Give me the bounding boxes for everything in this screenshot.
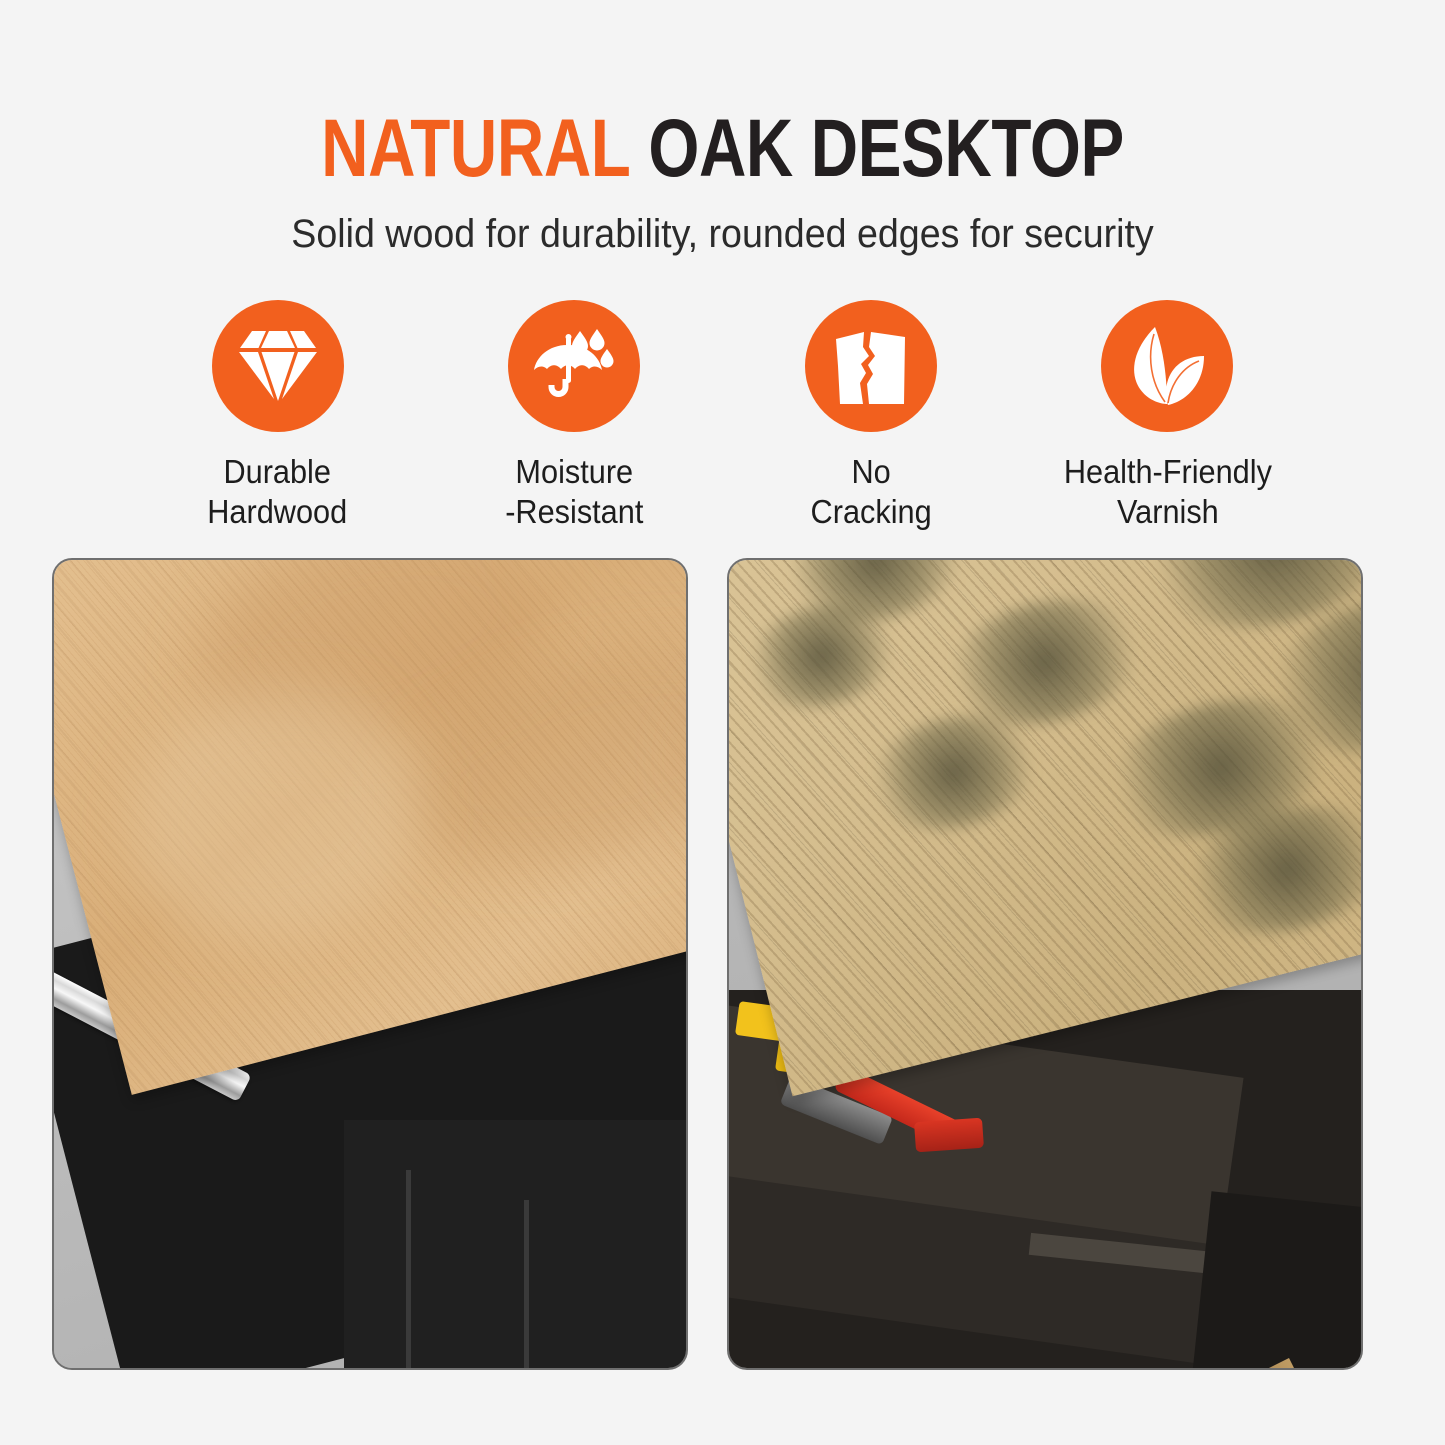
product-infographic: NATURAL OAK DESKTOP Solid wood for durab… xyxy=(0,0,1445,1445)
feature-badge xyxy=(805,300,937,432)
product-photo-clean-oak-workbench xyxy=(54,560,686,1368)
product-photo-mouldy-bamboo-top xyxy=(729,560,1361,1368)
feature-badge xyxy=(508,300,640,432)
page-title: NATURAL OAK DESKTOP xyxy=(145,108,1301,190)
feature-label: Health-Friendly Varnish xyxy=(1063,452,1271,533)
feature-label: Moisture -Resistant xyxy=(505,452,643,533)
feature-badge xyxy=(1101,300,1233,432)
cabinet-panel-seam xyxy=(524,1200,529,1370)
feature-item-no-cracking: No Cracking xyxy=(743,300,998,533)
feature-item-durable-hardwood: Durable Hardwood xyxy=(150,300,405,533)
cabinet-panel-seam xyxy=(406,1170,411,1370)
feature-item-health-friendly-varnish: Health-Friendly Varnish xyxy=(1040,300,1295,533)
title-rest-words: OAK DESKTOP xyxy=(648,103,1124,194)
comparison-panel-good xyxy=(52,558,688,1370)
feature-badge xyxy=(212,300,344,432)
umbrella-rain-icon xyxy=(531,325,617,407)
leaves-icon xyxy=(1125,325,1209,407)
feature-label: No Cracking xyxy=(810,452,931,533)
cracked-board-icon xyxy=(833,326,909,406)
feature-item-moisture-resistant: Moisture -Resistant xyxy=(447,300,702,533)
red-hammer-grip xyxy=(914,1118,984,1153)
feature-list: Durable Hardwood xyxy=(150,300,1295,533)
page-subtitle: Solid wood for durability, rounded edges… xyxy=(43,214,1401,254)
comparison-panel-bad xyxy=(727,558,1363,1370)
title-accent-word: NATURAL xyxy=(321,103,630,194)
diamond-icon xyxy=(238,329,318,403)
cabinet-front xyxy=(344,1120,688,1370)
feature-label: Durable Hardwood xyxy=(208,452,348,533)
cabinet-leg xyxy=(1187,1191,1363,1370)
